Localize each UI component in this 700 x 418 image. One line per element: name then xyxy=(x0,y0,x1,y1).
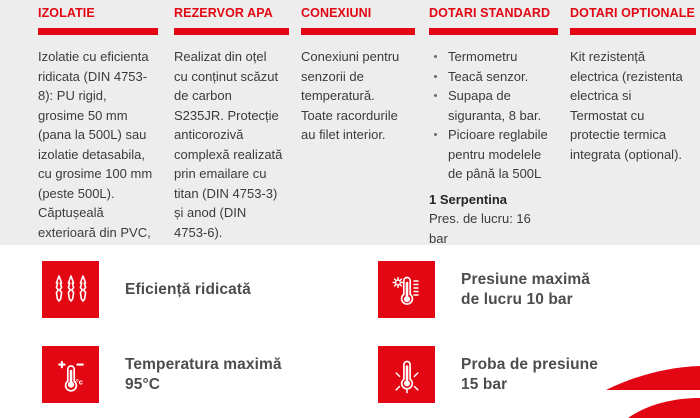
heading-rule xyxy=(301,28,415,35)
feature-item-pressure-test: Proba de presiune 15 bar xyxy=(378,346,598,403)
flames-icon xyxy=(51,270,91,310)
thermometer-plusminus-icon: °c xyxy=(51,355,91,395)
serpentine-title: 1 Serpentina xyxy=(429,190,552,210)
list-item: Picioare reglabile pentru modelele de pâ… xyxy=(429,125,552,184)
feature-badge xyxy=(378,261,435,318)
celsius-unit-label: °c xyxy=(75,377,82,386)
thermometer-sun-icon xyxy=(387,270,427,310)
spec-column-dotari-optionale: DOTARI OPTIONALE Kit rezistență electric… xyxy=(564,6,700,245)
heading-rule xyxy=(38,28,158,35)
list-item: Termometru xyxy=(429,47,552,67)
feature-badge xyxy=(378,346,435,403)
spec-column-rezervor-apa: REZERVOR APA Realizat din oțel cu conțin… xyxy=(168,6,295,245)
spec-column-conexiuni: CONEXIUNI Conexiuni pentru senzorii de t… xyxy=(295,6,421,245)
spec-column-dotari-standard: DOTARI STANDARD Termometru Teacă senzor.… xyxy=(421,6,564,245)
feature-item-efficiency: Eficiență ridicată xyxy=(42,261,251,318)
spec-column-heading: DOTARI OPTIONALE xyxy=(570,6,688,21)
list-item: Teacă senzor. xyxy=(429,67,552,87)
feature-highlights: Eficiență ridicată xyxy=(0,245,700,418)
spec-column-heading: DOTARI STANDARD xyxy=(429,6,552,21)
spec-column-body: Kit rezistență electrica (rezistenta ele… xyxy=(570,47,688,164)
serpentine-working-pressure: Pres. de lucru: 16 bar xyxy=(429,209,552,248)
feature-label: Eficiență ridicată xyxy=(125,280,251,300)
heading-rule xyxy=(174,28,289,35)
feature-item-max-temperature: °c Temperatura maximă 95°C xyxy=(42,346,282,403)
standard-equipment-list: Termometru Teacă senzor. Supapa de sigur… xyxy=(429,47,552,184)
specifications-panel: IZOLATIE Izolatie cu eficienta ridicata … xyxy=(0,0,700,245)
feature-label: Temperatura maximă 95°C xyxy=(125,355,282,395)
thermometer-burst-icon xyxy=(387,355,427,395)
spec-column-heading: IZOLATIE xyxy=(38,6,156,21)
feature-label: Presiune maximă de lucru 10 bar xyxy=(461,270,590,310)
spec-column-heading: REZERVOR APA xyxy=(174,6,283,21)
feature-badge: °c xyxy=(42,346,99,403)
feature-item-max-working-pressure: Presiune maximă de lucru 10 bar xyxy=(378,261,590,318)
feature-badge xyxy=(42,261,99,318)
spec-column-izolatie: IZOLATIE Izolatie cu eficienta ridicata … xyxy=(0,6,168,245)
spec-sheet: IZOLATIE Izolatie cu eficienta ridicata … xyxy=(0,0,700,418)
corner-swoosh-decoration xyxy=(570,358,700,418)
spec-column-body: Realizat din oțel cu conținut scăzut de … xyxy=(174,47,283,242)
list-item: Supapa de siguranta, 8 bar. xyxy=(429,86,552,125)
spec-column-body: Conexiuni pentru senzorii de temperatură… xyxy=(301,47,409,145)
corner-swoosh-icon xyxy=(570,358,700,418)
specifications-columns: IZOLATIE Izolatie cu eficienta ridicata … xyxy=(0,0,700,245)
spec-column-body: Izolatie cu eficienta ridicata (DIN 4753… xyxy=(38,47,156,262)
heading-rule xyxy=(429,28,558,35)
spec-column-heading: CONEXIUNI xyxy=(301,6,409,21)
heading-rule xyxy=(570,28,696,35)
